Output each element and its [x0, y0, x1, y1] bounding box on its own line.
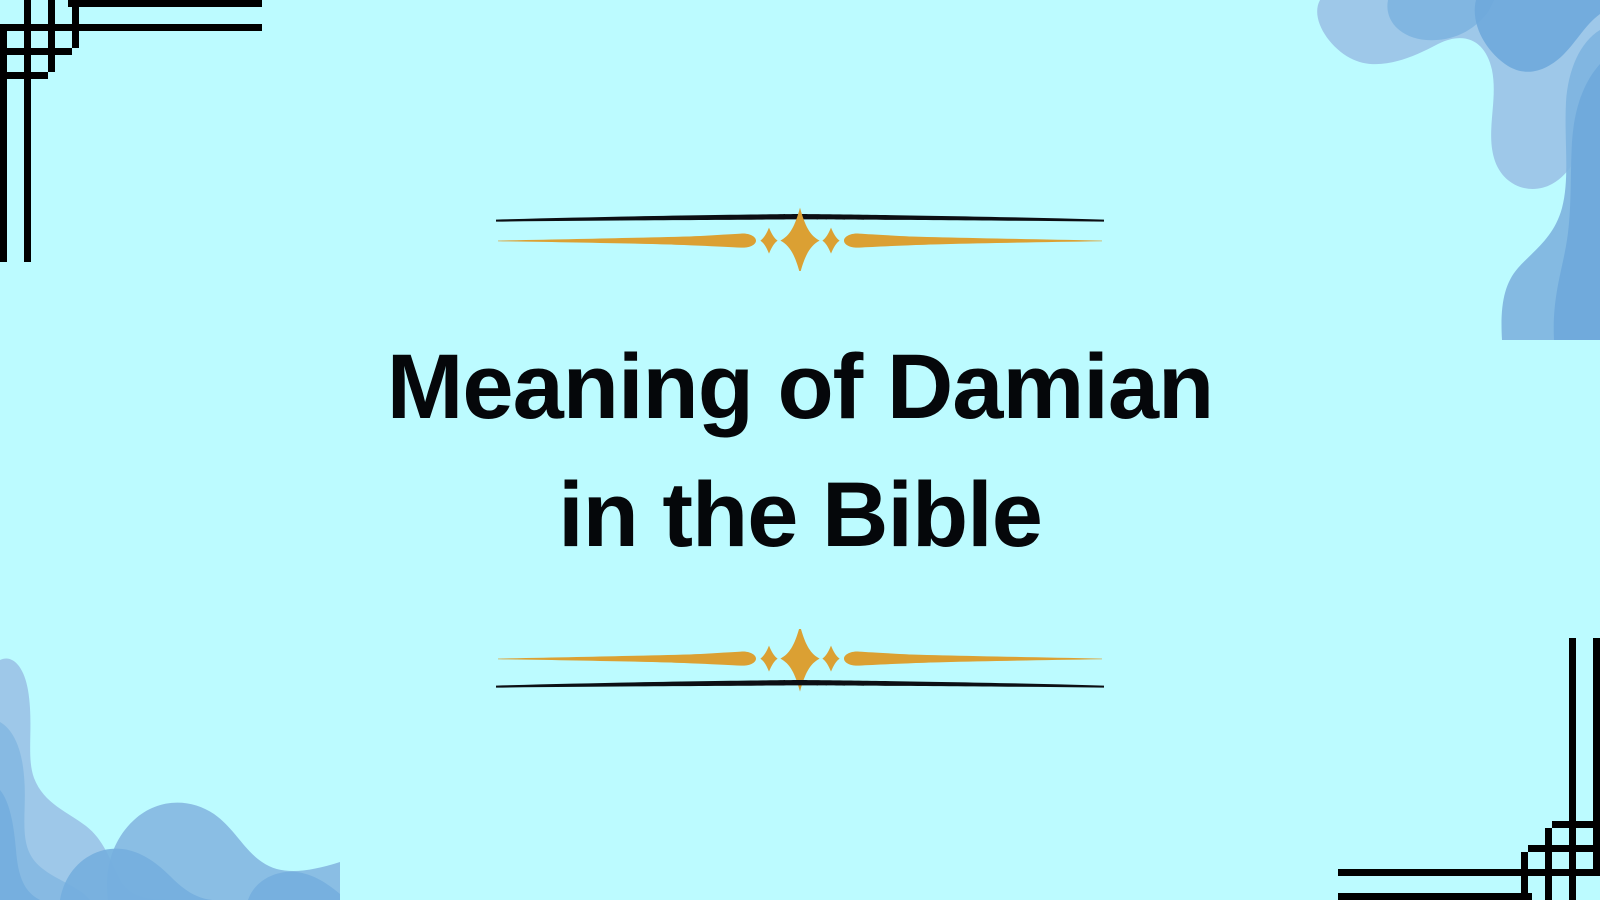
- page-title: Meaning of Damian in the Bible: [387, 323, 1213, 579]
- divider-diamond-small-right: [822, 646, 839, 672]
- poster-canvas: Meaning of Damian in the Bible: [0, 0, 1600, 900]
- flourish-divider-bottom: [494, 629, 1106, 701]
- poster-content: Meaning of Damian in the Bible: [0, 0, 1600, 900]
- page-title-line-1: Meaning of Damian: [387, 323, 1213, 451]
- divider-wedge-right-thin: [868, 653, 1102, 664]
- divider-wedge-right-thin: [868, 235, 1102, 246]
- divider-diamond-small-right: [822, 228, 839, 254]
- page-title-line-2: in the Bible: [387, 451, 1213, 579]
- flourish-divider-top: [494, 199, 1106, 271]
- divider-diamond-small-left: [760, 228, 777, 254]
- divider-wedge-left: [574, 652, 756, 666]
- divider-diamond-small-left: [760, 646, 777, 672]
- divider-wedge-left: [574, 234, 756, 248]
